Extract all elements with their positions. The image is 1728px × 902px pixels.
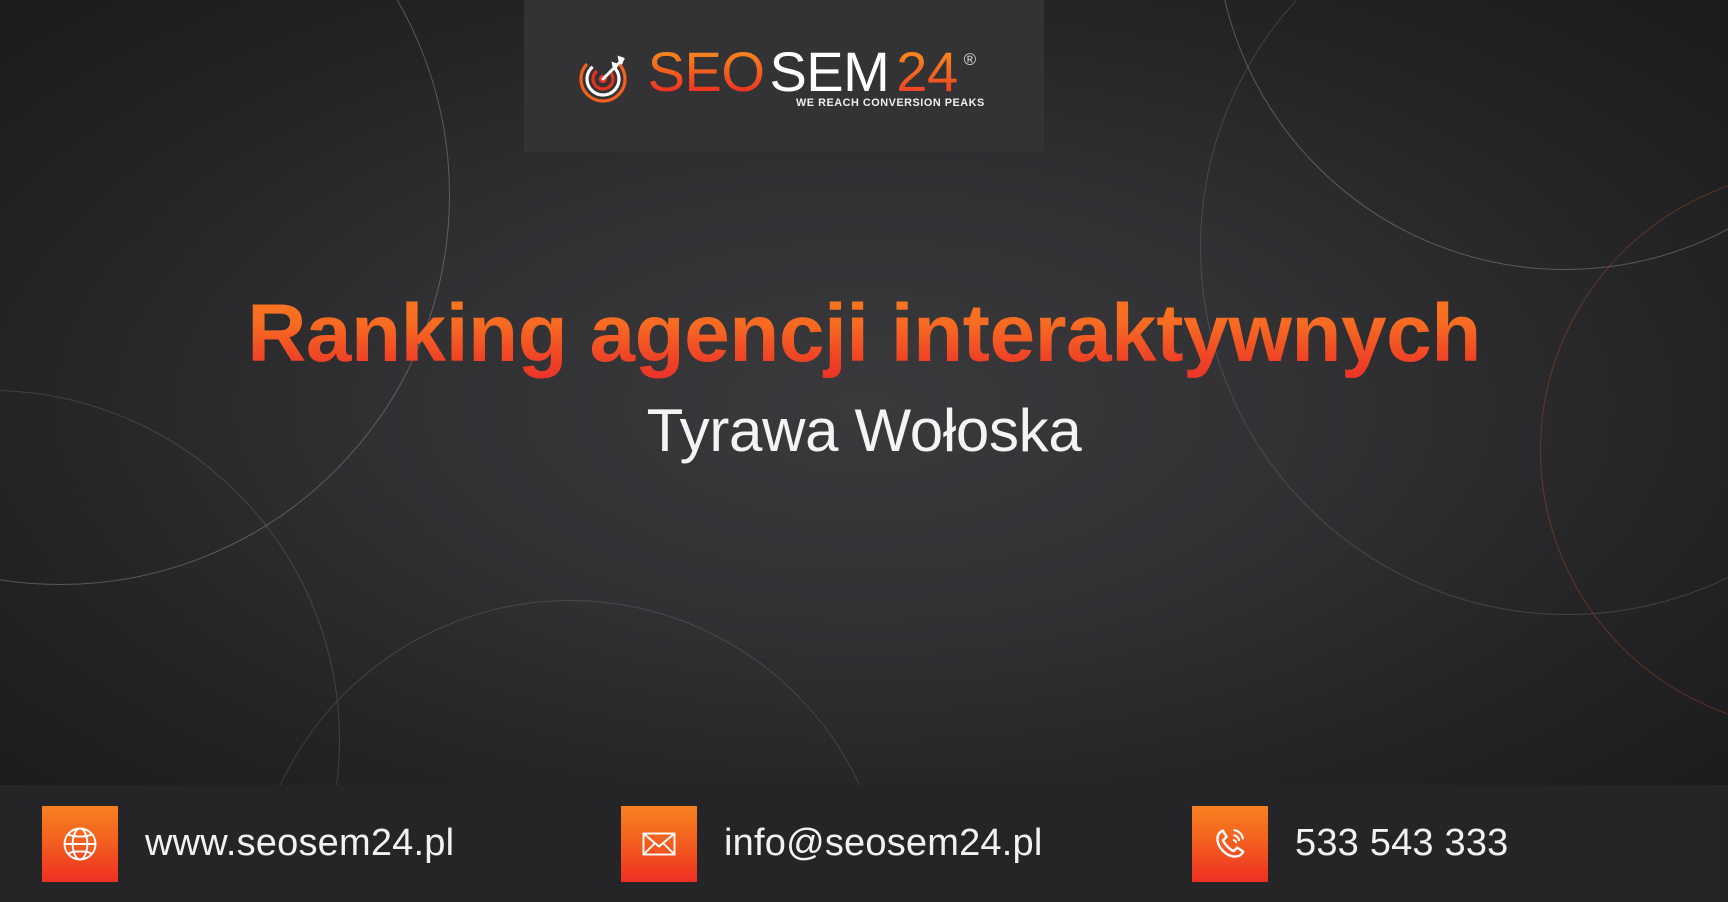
contact-phone[interactable]: 533 543 333 [1192, 806, 1509, 882]
page-title: Ranking agencji interaktywnych [0, 288, 1728, 380]
logo-word-24: 24 [896, 44, 957, 100]
decorative-circle-gray-topright [1215, 0, 1728, 270]
contact-website[interactable]: www.seosem24.pl [42, 806, 454, 882]
seosem24-logo[interactable]: SEO SEM 24 ® WE REACH CONVERSION PEAKS [578, 44, 991, 109]
decorative-circle-orange-topleft [0, 0, 70, 50]
phone-icon [1192, 806, 1268, 882]
logo-word-sem: SEM [769, 44, 889, 100]
logo-wordmark: SEO SEM 24 ® WE REACH CONVERSION PEAKS [648, 44, 991, 109]
target-dart-icon [578, 48, 634, 104]
contact-email-label: info@seosem24.pl [724, 822, 1043, 865]
logo-word-seo: SEO [648, 44, 765, 100]
page-subtitle: Tyrawa Wołoska [0, 396, 1728, 465]
globe-icon [42, 806, 118, 882]
registered-trademark-symbol: ® [964, 50, 977, 70]
contact-email[interactable]: info@seosem24.pl [621, 806, 1043, 882]
headline-block: Ranking agencji interaktywnych Tyrawa Wo… [0, 288, 1728, 465]
envelope-icon [621, 806, 697, 882]
contact-website-label: www.seosem24.pl [145, 822, 454, 865]
contact-phone-label: 533 543 333 [1295, 822, 1509, 865]
logo-tagline: WE REACH CONVERSION PEAKS [796, 97, 985, 109]
logo-plate: SEO SEM 24 ® WE REACH CONVERSION PEAKS [524, 0, 1044, 152]
footer-contact-bar: www.seosem24.pl info@seosem24.pl [0, 785, 1728, 902]
presentation-slide: SEO SEM 24 ® WE REACH CONVERSION PEAKS R… [0, 0, 1728, 902]
